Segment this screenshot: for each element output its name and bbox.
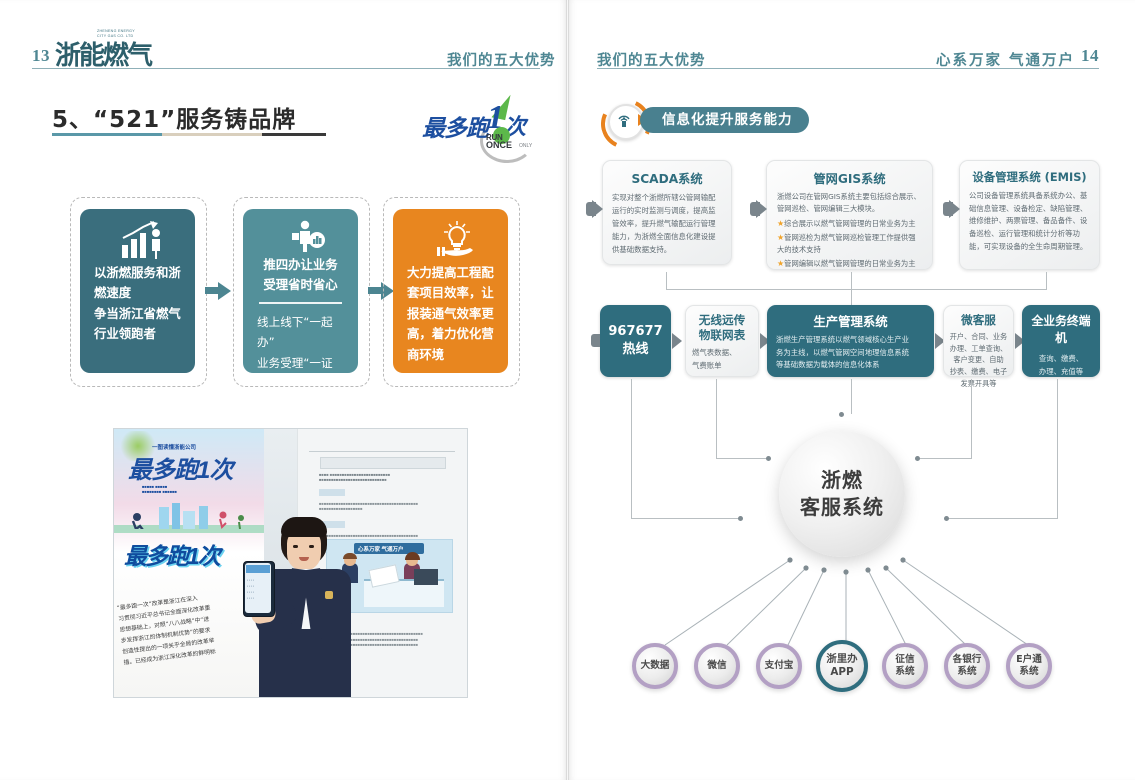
iot-meter-body: 燃气表数据、 气费账单 <box>692 347 752 372</box>
connector-dot-right-inner <box>915 456 920 461</box>
page-gutter <box>566 0 569 780</box>
step-3-title: 大力提高工程配 套项目效率，让 报装通气效率更 高，着力优化营 商环境 <box>407 263 494 365</box>
step-arrow-2-stem <box>368 287 381 294</box>
badge-only-label: ONLY <box>519 143 532 149</box>
poster-title: 最多跑1次 <box>128 450 232 485</box>
title-underline-beige <box>162 133 262 136</box>
system-card-gis-title: 管网GIS系统 <box>777 169 922 187</box>
event-photo: ■■■■ ■■■■■■■■■■■■■■■■■■■■■■■■■■■■■■■■■■■… <box>113 428 468 698</box>
logo-chinese-text: 浙能燃气 <box>55 35 151 72</box>
step-arrow-1-stem <box>205 287 218 294</box>
magazine-spread: 13 浙能燃气 ZHENENG ENERGY CITY GAS CO. LTD … <box>0 0 1135 780</box>
step-2-card[interactable]: 推四办让业务 受理省时省心 线上线下“一起办” 业务受理“一证办” 申请通气“马… <box>243 209 358 373</box>
system-card-terminal[interactable]: 全业务终端机 查询、缴费、 办理、充值等 <box>1022 305 1100 377</box>
system-card-emis-title: 设备管理系统 (EMIS) <box>969 169 1090 185</box>
lightbulb-hand-icon <box>407 219 494 263</box>
system-card-hotline[interactable]: 967677 热线 <box>600 305 671 377</box>
hotline-tab-left <box>591 334 600 347</box>
system-card-gis-body: 浙燃公司在管网GIS系统主要包括综合展示、管网巡检、管网编辑三大模块。 <box>777 191 922 216</box>
section-banner: 信息化提升服务能力 <box>640 107 809 133</box>
step-3-card[interactable]: 大力提高工程配 套项目效率，让 报装通气效率更 高，着力优化营 商环境 <box>393 209 508 373</box>
run-once-badge: 最多跑 1 次 RUN ONCE ONLY <box>420 95 540 153</box>
company-logo: 浙能燃气 ZHENENG ENERGY CITY GAS CO. LTD <box>55 33 165 65</box>
badge-once-label: ONCE <box>486 140 512 150</box>
iot-meter-title: 无线远传 物联网表 <box>692 313 752 343</box>
wechat-service-title: 微客服 <box>949 312 1008 328</box>
system-card-gis-bullets: ★综合展示以燃气管网管理的日常业务为主 ★管网巡检为燃气管网巡检管理工作提供强大… <box>777 217 922 271</box>
hotline-tab-nub <box>672 333 682 349</box>
photo-panel-slogan: 心系万家 气通万户 <box>358 545 404 553</box>
step-1-card[interactable]: 以浙燃服务和浙 燃速度 争当浙江省燃气 行业领跑者 <box>80 209 195 373</box>
signal-hand-icon <box>616 112 632 128</box>
step-2-title: 推四办让业务 受理省时省心 <box>257 255 344 296</box>
connector-top-horizontal <box>666 289 1046 290</box>
connector-dot-left-inner <box>766 456 771 461</box>
connector-dot-top <box>839 412 844 417</box>
connector-terminal-down <box>1057 379 1058 519</box>
right-header-right-title: 心系万家 气通万户 <box>936 49 1075 70</box>
poster-big-title: 最多跑1次 <box>124 537 219 571</box>
terminal-body: 查询、缴费、 办理、充值等 <box>1026 353 1096 378</box>
left-header-title: 我们的五大优势 <box>447 49 556 70</box>
connector-dot-right-outer <box>944 516 949 521</box>
system-card-iot-meter[interactable]: 无线远传 物联网表 燃气表数据、 气费账单 <box>685 305 759 377</box>
logo-english-line1: ZHENENG ENERGY <box>97 29 135 34</box>
scada-tab-block <box>586 202 596 216</box>
connector-iot-down <box>716 379 717 459</box>
system-card-production[interactable]: 生产管理系统 浙燃生产管理系统以燃气领域核心生产业 务为主线，以燃气管网空间地理… <box>767 305 934 377</box>
hub-label-line1: 浙燃 <box>821 467 863 494</box>
hotline-number: 967677 <box>608 323 662 341</box>
connector-gis-down <box>851 272 852 306</box>
connector-hotline-to-hub <box>631 518 740 519</box>
system-card-emis[interactable]: 设备管理系统 (EMIS) 公司设备管理系统具备系统办公、基础信息管理、设备检定… <box>959 160 1100 270</box>
gis-tab-block <box>750 202 760 216</box>
connector-wechat-to-hub <box>919 458 972 459</box>
hub-circle: 浙燃 客服系统 <box>779 431 905 557</box>
connector-wechat-down <box>971 379 972 459</box>
terminal-title: 全业务终端机 <box>1026 312 1096 346</box>
bar-chart-person-icon <box>94 219 181 263</box>
system-card-gis[interactable]: 管网GIS系统 浙燃公司在管网GIS系统主要包括综合展示、管网巡检、管网编辑三大… <box>766 160 933 270</box>
system-card-scada[interactable]: SCADA系统 实现对整个浙燃所辖公管网输配运行的实时监测与调度，提高监管效率，… <box>602 160 732 265</box>
leaf-node-credit[interactable]: 征信 系统 <box>882 643 928 689</box>
step-arrow-1 <box>218 282 231 300</box>
leaf-node-zhejiangban-app[interactable]: 浙里办 APP <box>816 640 868 692</box>
step-1-title: 以浙燃服务和浙 燃速度 争当浙江省燃气 行业领跑者 <box>94 263 181 345</box>
connector-production-down <box>851 379 852 414</box>
connector-iot-to-hub <box>716 458 769 459</box>
connector-dot-left-outer <box>738 516 743 521</box>
title-underline-dark <box>262 133 326 136</box>
left-header-rule <box>32 68 540 69</box>
system-card-scada-title: SCADA系统 <box>612 169 722 187</box>
system-card-wechat-service[interactable]: 微客服 开户、合同、业务 办理、工单查询、 客户变更、自助 抄表、缴费、电子 发… <box>943 305 1014 377</box>
connector-emis-down <box>1046 272 1047 290</box>
production-title: 生产管理系统 <box>776 312 925 330</box>
hotline-label: 热线 <box>608 341 662 359</box>
logo-english-line2: CITY GAS CO. LTD <box>97 34 133 39</box>
system-card-scada-body: 实现对整个浙燃所辖公管网输配运行的实时监测与调度，提高监管效率，提升燃气输配运行… <box>612 192 722 257</box>
page-title: 5、“521”服务铸品牌 <box>52 100 296 134</box>
service-person-icon <box>257 219 344 255</box>
right-page-number: 14 <box>1081 46 1099 66</box>
step-2-divider <box>259 302 342 304</box>
production-body: 浙燃生产管理系统以燃气领域核心生产业 务为主线，以燃气管网空间地理信息系统 等基… <box>776 334 925 372</box>
right-header-left-title: 我们的五大优势 <box>597 49 706 70</box>
leaf-node-ehutong[interactable]: E户通 系统 <box>1006 643 1052 689</box>
right-header-rule <box>597 68 1099 69</box>
emis-tab-block <box>943 202 953 216</box>
connector-terminal-to-hub <box>948 518 1058 519</box>
badge-text-cn: 最多跑 <box>422 109 488 143</box>
wechat-service-body: 开户、合同、业务 办理、工单查询、 客户变更、自助 抄表、缴费、电子 发票开具等 <box>949 331 1008 389</box>
leaf-node-wechat[interactable]: 微信 <box>694 643 740 689</box>
hub-label-line2: 客服系统 <box>800 494 884 521</box>
leaf-node-alipay[interactable]: 支付宝 <box>756 643 802 689</box>
left-page-number: 13 <box>32 46 50 66</box>
leaf-node-bigdata[interactable]: 大数据 <box>632 643 678 689</box>
leaf-node-banks[interactable]: 各银行 系统 <box>944 643 990 689</box>
connector-hotline-down <box>631 379 632 519</box>
connector-scada-down <box>666 272 667 290</box>
title-underline-teal <box>52 133 162 136</box>
photo-panel-text: ■■■■ ■■■■■■■■■■■■■■■■■■■■■■■■■■■■■■■■■■■… <box>319 472 449 482</box>
system-card-emis-body: 公司设备管理系统具备系统办公、基础信息管理、设备检定、缺陷管理、维修维护、两票管… <box>969 190 1090 254</box>
